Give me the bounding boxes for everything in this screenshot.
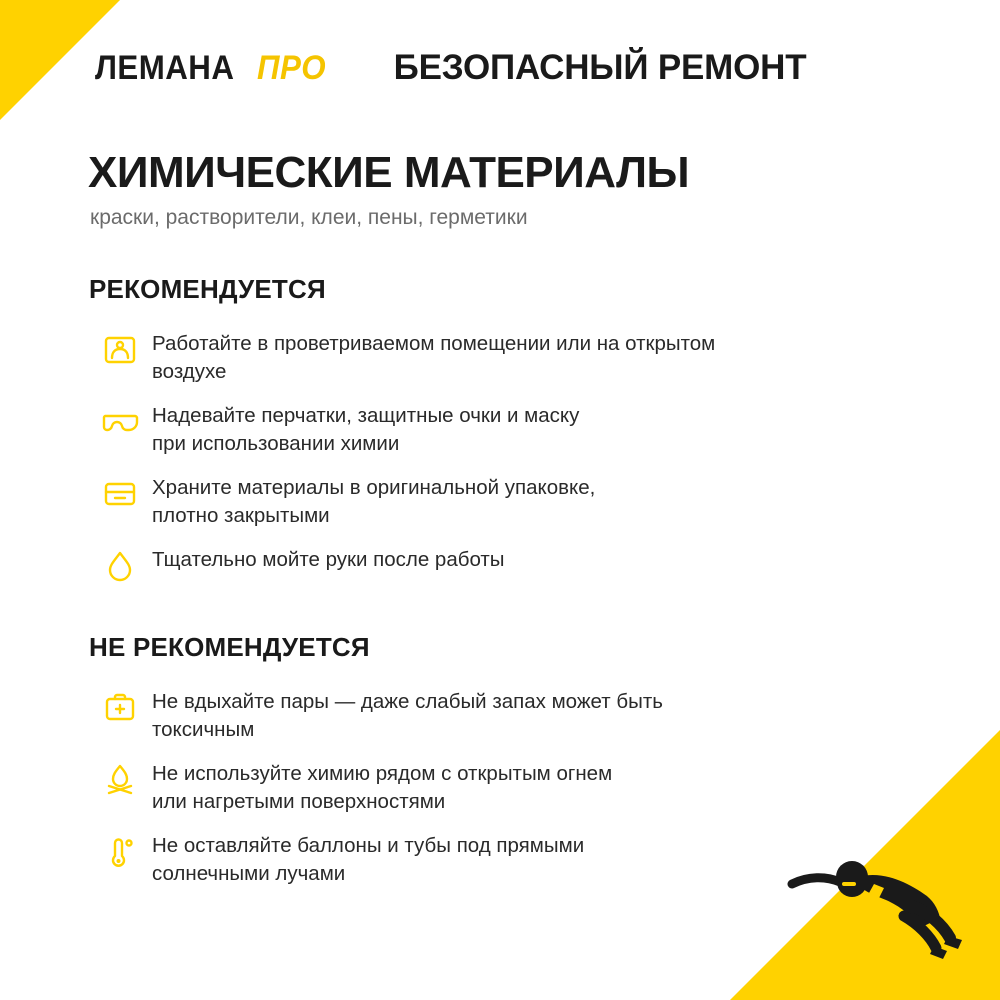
first-aid-kit-icon: [88, 684, 152, 736]
list-item: Надевайте перчатки, защитные очки и маск…: [88, 398, 888, 458]
recommended-list: Работайте в проветриваемом помещении или…: [88, 326, 888, 606]
list-item: Тщательно мойте руки после работы: [88, 542, 888, 594]
list-item-text: Не используйте химию рядом с открытым ог…: [152, 756, 888, 816]
water-drop-icon: [88, 542, 152, 594]
page-subtitle: краски, растворители, клеи, пены, гермет…: [90, 206, 528, 230]
brand-logo: ЛЕМАНА ПРО: [95, 49, 332, 88]
open-flame-icon: [88, 756, 152, 808]
header: ЛЕМАНА ПРО БЕЗОПАСНЫЙ РЕМОНТ: [95, 42, 940, 94]
list-item-text: Храните материалы в оригинальной упаковк…: [152, 470, 888, 530]
poster-page: ЛЕМАНА ПРО БЕЗОПАСНЫЙ РЕМОНТ ХИМИЧЕСКИЕ …: [0, 0, 1000, 1000]
list-item: Не используйте химию рядом с открытым ог…: [88, 756, 888, 816]
list-item-text: Не оставляйте баллоны и тубы под прямыми…: [152, 828, 888, 888]
storage-box-icon: [88, 470, 152, 522]
thermometer-icon: [88, 828, 152, 880]
list-item: Не оставляйте баллоны и тубы под прямыми…: [88, 828, 888, 888]
safety-goggles-icon: [88, 398, 152, 450]
list-item-text: Работайте в проветриваемом помещении или…: [152, 326, 888, 386]
list-item: Работайте в проветриваемом помещении или…: [88, 326, 888, 386]
page-title: ХИМИЧЕСКИЕ МАТЕРИАЛЫ: [88, 148, 689, 198]
list-item-text: Надевайте перчатки, защитные очки и маск…: [152, 398, 888, 458]
list-item-text: Не вдыхайте пары — даже слабый запах мож…: [152, 684, 888, 744]
ventilation-window-icon: [88, 326, 152, 378]
section-heading-recommended: РЕКОМЕНДУЕТСЯ: [89, 274, 326, 305]
section-heading-not-recommended: НЕ РЕКОМЕНДУЕТСЯ: [89, 632, 370, 663]
flying-worker-mascot: [782, 832, 972, 962]
logo-text-secondary: ПРО: [257, 49, 326, 88]
list-item: Не вдыхайте пары — даже слабый запах мож…: [88, 684, 888, 744]
header-title: БЕЗОПАСНЫЙ РЕМОНТ: [394, 48, 807, 88]
list-item: Храните материалы в оригинальной упаковк…: [88, 470, 888, 530]
not-recommended-list: Не вдыхайте пары — даже слабый запах мож…: [88, 684, 888, 900]
list-item-text: Тщательно мойте руки после работы: [152, 542, 888, 574]
logo-text-primary: ЛЕМАНА: [95, 49, 234, 88]
